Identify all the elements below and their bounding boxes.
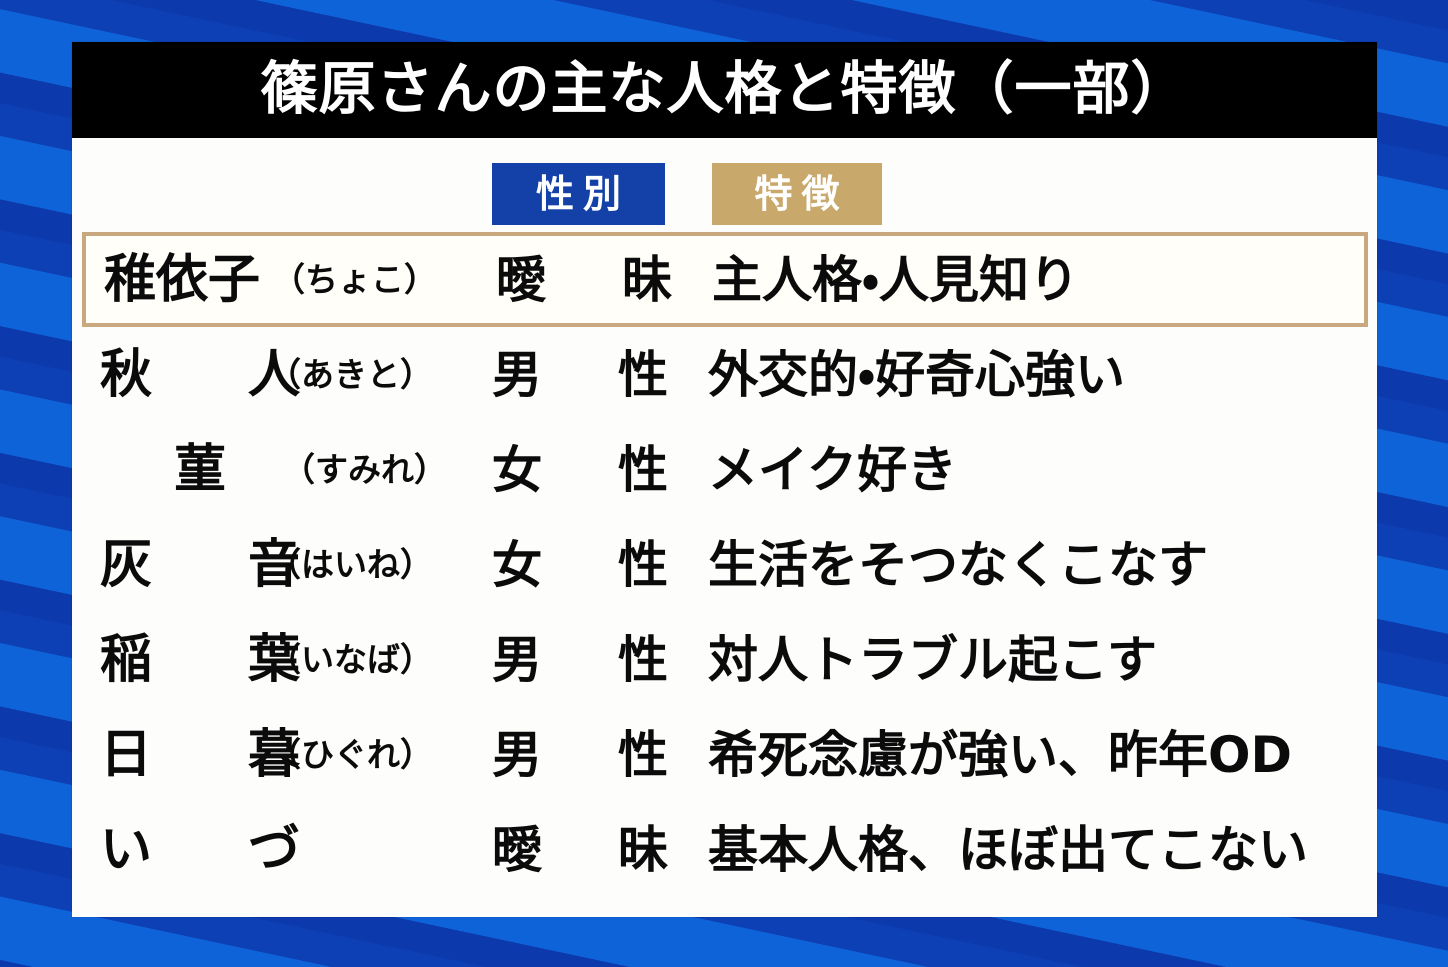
name-char-a: 秋 xyxy=(100,349,152,401)
row-gender: 男 性 xyxy=(492,635,668,685)
column-header-trait: 特徴 xyxy=(712,163,882,225)
row-trait: 主人格・人見知り xyxy=(712,255,1079,305)
gender-char-b: 性 xyxy=(618,350,668,400)
row-name: い づ xyxy=(100,824,300,876)
name-char-a: 日 xyxy=(100,729,152,781)
column-header-gender: 性別 xyxy=(492,163,665,225)
gender-char-a: 曖 xyxy=(496,255,546,305)
gender-char-a: 男 xyxy=(492,635,542,685)
table-row: 日 暮 （ひぐれ） 男 性 希死念慮が強い、昨年OD xyxy=(72,707,1377,802)
row-gender: 女 性 xyxy=(492,540,668,590)
name-char-a: い xyxy=(100,824,152,876)
gender-char-b: 昧 xyxy=(618,825,668,875)
gender-char-a: 女 xyxy=(492,540,542,590)
row-trait: 希死念慮が強い、昨年OD xyxy=(708,730,1292,780)
name-char-b: 菫 xyxy=(174,444,226,496)
name-char-b: づ xyxy=(248,824,300,876)
row-furigana: （すみれ） xyxy=(282,453,494,486)
gender-char-a: 男 xyxy=(492,730,542,780)
table-row: 秋 人 （あきと） 男 性 外交的・好奇心強い xyxy=(72,327,1377,422)
table-row: い づ 曖 昧 基本人格、ほぼ出てこない xyxy=(72,802,1377,897)
row-furigana: （はいね） xyxy=(268,548,480,581)
row-gender: 女 性 xyxy=(492,445,668,495)
row-furigana: （あきと） xyxy=(268,358,480,391)
row-furigana: （いなば） xyxy=(268,643,480,676)
gender-char-b: 性 xyxy=(618,540,668,590)
infographic-stage: 篠原さんの主な人格と特徴（一部） 性別 特徴 稚 依子 （ちょこ） 曖 昧 主人… xyxy=(0,0,1448,967)
gender-char-a: 曖 xyxy=(492,825,542,875)
gender-char-a: 男 xyxy=(492,350,542,400)
gender-char-b: 性 xyxy=(618,730,668,780)
name-char-a: 灰 xyxy=(100,539,152,591)
row-trait: 基本人格、ほぼ出てこない xyxy=(708,825,1308,875)
row-furigana: （ひぐれ） xyxy=(268,738,480,771)
gender-char-a: 女 xyxy=(492,445,542,495)
row-trait: 対人トラブル起こす xyxy=(708,635,1157,685)
row-gender: 曖 昧 xyxy=(492,825,668,875)
row-trait: メイク好き xyxy=(708,445,957,495)
gender-char-b: 性 xyxy=(618,635,668,685)
row-gender: 男 性 xyxy=(492,350,668,400)
row-gender: 男 性 xyxy=(492,730,668,780)
column-header-row: 性別 特徴 xyxy=(72,163,1377,225)
info-card: 篠原さんの主な人格と特徴（一部） 性別 特徴 稚 依子 （ちょこ） 曖 昧 主人… xyxy=(72,42,1377,917)
name-char-b: 依子 xyxy=(156,254,260,306)
table-row: 稚 依子 （ちょこ） 曖 昧 主人格・人見知り xyxy=(82,232,1368,327)
table-row: 菫 （すみれ） 女 性 メイク好き xyxy=(72,422,1377,517)
row-name: 菫 xyxy=(100,444,300,496)
name-char-a: 稚 xyxy=(104,254,156,306)
row-trait: 外交的・好奇心強い xyxy=(708,350,1125,400)
table-row: 灰 音 （はいね） 女 性 生活をそつなくこなす xyxy=(72,517,1377,612)
name-char-a: 稲 xyxy=(100,634,152,686)
gender-char-b: 昧 xyxy=(622,255,672,305)
personality-table: 稚 依子 （ちょこ） 曖 昧 主人格・人見知り 秋 人 （あきと） 男 xyxy=(72,232,1377,897)
table-row: 稲 葉 （いなば） 男 性 対人トラブル起こす xyxy=(72,612,1377,707)
row-furigana: （ちょこ） xyxy=(272,263,484,296)
title-bar: 篠原さんの主な人格と特徴（一部） xyxy=(72,42,1377,138)
gender-char-b: 性 xyxy=(618,445,668,495)
row-trait: 生活をそつなくこなす xyxy=(708,540,1208,590)
row-gender: 曖 昧 xyxy=(496,255,672,305)
page-title: 篠原さんの主な人格と特徴（一部） xyxy=(261,61,1189,118)
